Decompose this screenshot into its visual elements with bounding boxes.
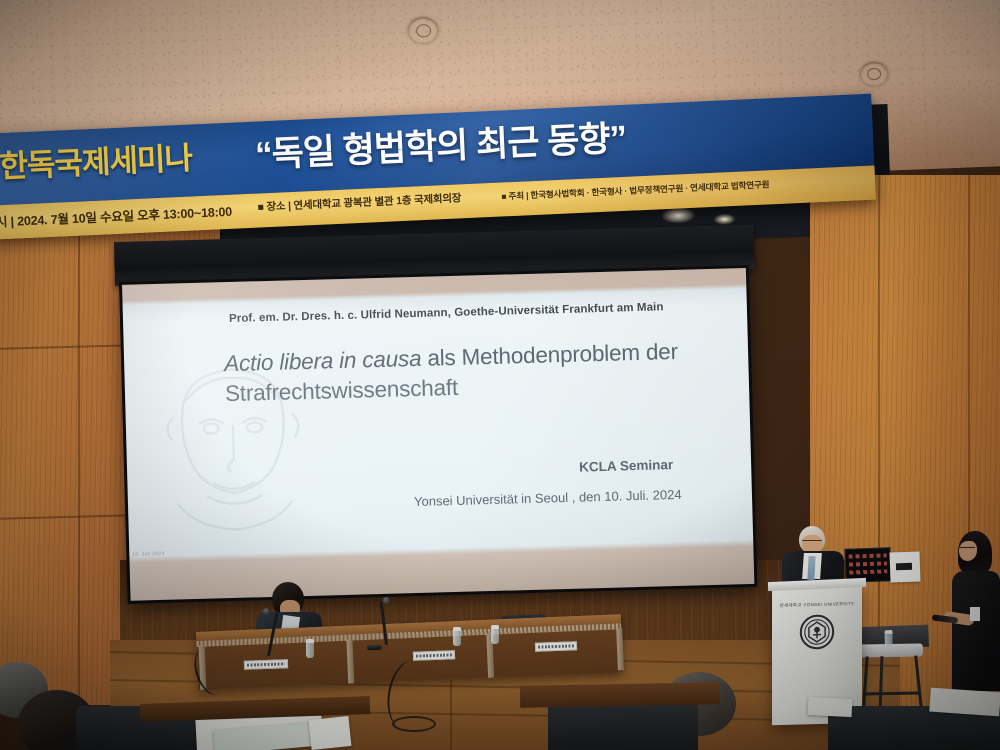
banner-headline-left: 한독국제세미나: [0, 133, 193, 187]
name-plate: [535, 641, 577, 651]
standing-assistant: [950, 531, 1000, 691]
documents-on-desk: [309, 716, 352, 750]
microphone-head-icon: [383, 597, 390, 604]
speaker-tie: [807, 556, 815, 580]
posted-sign: [889, 551, 920, 582]
water-bottle: [306, 639, 314, 658]
microphone-head-icon: [263, 608, 270, 615]
conference-hall-photo: 한독국제세미나 “독일 형법학의 최근 동향” 시 | 2024. 7월 10일…: [0, 0, 1000, 750]
assistant-glasses-icon: [959, 547, 975, 552]
documents-on-desk: [929, 688, 1000, 717]
slide-title: Actio libera in causa als Methodenproble…: [224, 337, 685, 409]
stage-light-icon: [661, 207, 696, 224]
name-plate: [413, 650, 455, 660]
speaker-glasses-icon: [802, 540, 822, 545]
lectern-wordmark: 연세대학교 YONSEI UNIVERSITY: [780, 601, 855, 609]
documents-on-desk: [808, 697, 853, 717]
slide-author-line: Prof. em. Dr. Dres. h. c. Ulfrid Neumann…: [229, 301, 664, 325]
slide-title-italic: Actio libera in causa: [224, 346, 422, 376]
yonsei-shield-emblem-icon: [799, 614, 835, 651]
assistant-torso: [952, 571, 1000, 691]
slide-venue-date: Yonsei Universität in Seoul , den 10. Ju…: [414, 487, 682, 509]
desk-ledge: [520, 682, 720, 707]
slide-content: Prof. em. Dr. Dres. h. c. Ulfrid Neumann…: [123, 287, 753, 540]
name-plate: [244, 659, 288, 670]
slide-corner-stamp: 10. Juli 2024: [132, 551, 164, 558]
water-bottle: [491, 625, 499, 644]
slide-title-rest: als Methodenproblem der: [421, 339, 678, 371]
water-bottle: [884, 630, 892, 646]
stage-light-icon: [713, 213, 735, 225]
audience-seat: [548, 700, 698, 750]
cable-coil: [392, 716, 436, 732]
slide-title-line2: Strafrechtswissenschaft: [225, 375, 459, 406]
projection-screen: Prof. em. Dr. Dres. h. c. Ulfrid Neumann…: [118, 229, 757, 604]
microphone-base: [367, 645, 382, 651]
assistant-lanyard: [970, 607, 980, 621]
slide-seminar-label: KCLA Seminar: [579, 457, 673, 475]
bar-stool: [854, 599, 928, 718]
table-leg: [346, 639, 354, 683]
water-bottle: [453, 627, 461, 646]
